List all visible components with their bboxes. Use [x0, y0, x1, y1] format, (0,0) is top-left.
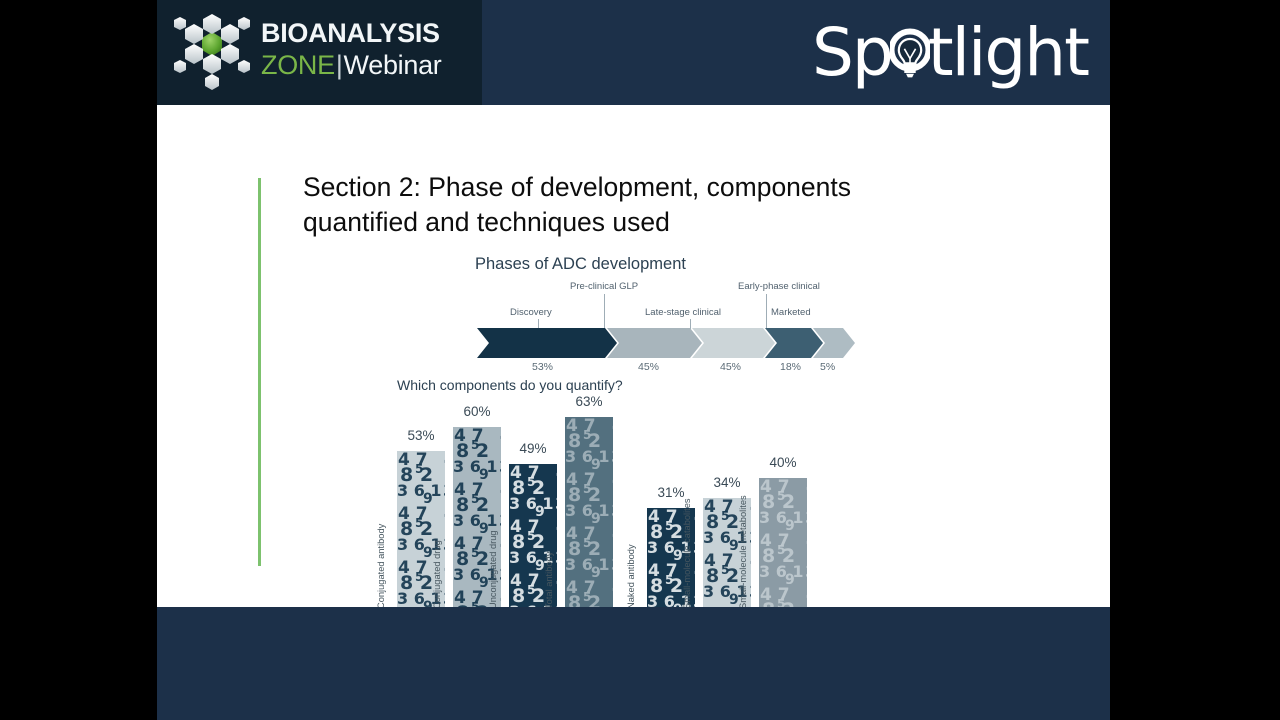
slide-title-line2: quantified and techniques used [303, 205, 1003, 240]
bar-label-unconjugated-drug: Unconjugated drug [488, 530, 498, 607]
phase-label-late-stage-clinical: Late-stage clinical [645, 307, 721, 318]
lightbulb-icon [890, 20, 930, 86]
spotlight-text-end: tlight [928, 20, 1088, 86]
bar-small-molecule-metabolites [759, 478, 807, 607]
brand-zone-text: ZONE [261, 50, 335, 80]
bar-value-conjugated-antibody: 53% [397, 428, 445, 443]
leader-line-preclinical-glp [604, 294, 605, 329]
bar-value-total-antibody: 63% [565, 394, 613, 409]
brand-webinar-text: Webinar [344, 50, 442, 80]
chevron-preclinical-glp [607, 328, 702, 358]
phase-chevron-svg [475, 328, 875, 358]
brand-zone-webinar: ZONE|Webinar [261, 49, 476, 81]
brand-bioanalysis: BIOANALYSIS [261, 17, 476, 49]
bar-label-total-antibody: Total antibody [544, 552, 554, 607]
webinar-header-band: BIOANALYSIS ZONE|Webinar Sp tlight [157, 0, 1110, 105]
screenshot-viewport: BIOANALYSIS ZONE|Webinar Sp tlight Secti… [0, 0, 1280, 720]
spotlight-wordmark: Sp tlight [812, 8, 1088, 98]
phase-label-preclinical-glp: Pre-clinical GLP [570, 281, 638, 292]
spotlight-text-start: Sp [812, 20, 892, 86]
bar-value-unconjugated-drug: 49% [509, 441, 557, 456]
phase-label-marketed: Marketed [771, 307, 811, 318]
bar-label-small-molecule-catabolites: Small-molecule catabolites [682, 498, 692, 607]
phase-label-discovery: Discovery [510, 307, 552, 318]
slide-title: Section 2: Phase of development, compone… [303, 170, 1003, 240]
slide-title-line1: Section 2: Phase of development, compone… [303, 170, 1003, 205]
bar-label-conjugated-antibody: Conjugated antibody [376, 524, 386, 607]
bar-label-naked-antibody: Naked antibody [626, 544, 636, 607]
leader-line-early-phase-clinical [766, 294, 767, 329]
brand-separator: | [335, 50, 344, 80]
webinar-footer-band [157, 607, 1110, 720]
presentation-slide: Section 2: Phase of development, compone… [157, 105, 1110, 607]
phase-value-discovery: 53% [532, 361, 553, 373]
hexagon-cluster-icon [171, 12, 253, 94]
phase-label-early-phase-clinical: Early-phase clinical [738, 281, 820, 292]
green-accent-bar [258, 178, 261, 566]
chevron-late-stage-clinical [692, 328, 775, 358]
bar-value-small-molecule-metabolites: 40% [759, 455, 807, 470]
phase-value-early-phase-clinical: 18% [780, 361, 801, 373]
bar-value-small-molecule-catabolites: 34% [703, 475, 751, 490]
bar-group-total-antibody: 63% Total antibody [565, 397, 613, 607]
components-quantified-bar-chart: 4 7 8 2 3 6 1 9 5 4 7 8 2 3 6 1 9 5 [397, 397, 1097, 607]
chevron-discovery [477, 328, 617, 358]
phase-value-preclinical-glp: 45% [638, 361, 659, 373]
phase-value-late-stage-clinical: 45% [720, 361, 741, 373]
bar-value-conjugated-drug: 60% [453, 404, 501, 419]
phases-of-adc-development-chart: Phases of ADC development Discovery Pre-… [475, 255, 875, 380]
bar-group-small-molecule-metabolites: 40% Small-molecule metabolites [759, 458, 807, 607]
bar-label-conjugated-drug: Conjugated drug [432, 540, 442, 607]
bar-chart-title: Which components do you quantify? [397, 377, 623, 393]
phase-value-marketed: 5% [820, 361, 835, 373]
brand-wordmark: BIOANALYSIS ZONE|Webinar [261, 17, 476, 81]
bioanalysis-zone-logo-panel: BIOANALYSIS ZONE|Webinar [157, 0, 482, 105]
phase-chart-title: Phases of ADC development [475, 255, 686, 274]
bar-total-antibody [565, 417, 613, 607]
bar-label-small-molecule-metabolites: Small-molecule metabolites [738, 495, 748, 607]
phase-chevron-row [475, 328, 875, 358]
